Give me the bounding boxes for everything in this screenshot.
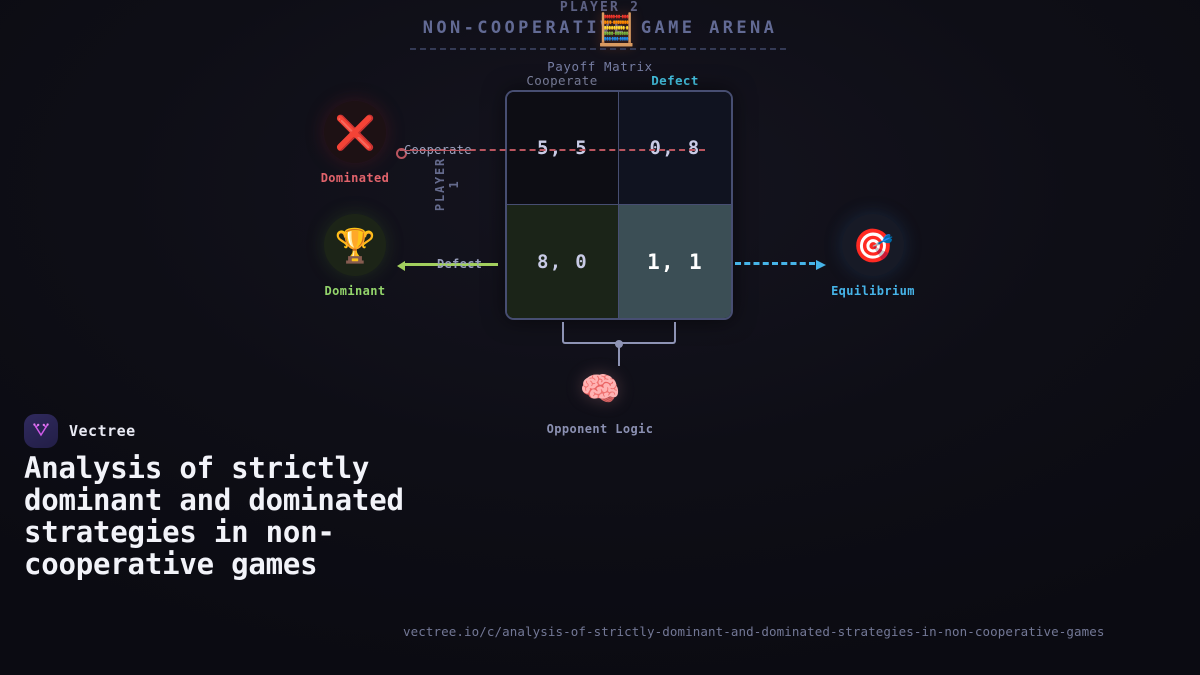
- payoff-matrix-caption: Payoff Matrix: [0, 59, 1200, 74]
- header-divider: [410, 48, 786, 50]
- badge-dominated-label: Dominated: [300, 171, 410, 185]
- row-header-defect: Defect: [437, 257, 482, 271]
- opponent-logic-label: Opponent Logic: [0, 422, 1200, 436]
- headline: Analysis of strictly dominant and domina…: [24, 452, 424, 580]
- target-icon: 🎯: [842, 214, 904, 276]
- matrix-cell-defect-cooperate[interactable]: 8, 0: [507, 205, 619, 318]
- trophy-icon: 🏆: [324, 214, 386, 276]
- cross-mark-icon: ❌: [324, 101, 386, 163]
- footer-url: vectree.io/c/analysis-of-strictly-domina…: [403, 624, 1105, 639]
- game-arena-canvas: PLAYER 2 NON-COOPERATIVE GAME ARENA 🧮 Pa…: [0, 0, 1200, 675]
- badge-dominated: ❌ Dominated: [300, 101, 410, 185]
- brain-icon: 🧠: [0, 372, 1200, 405]
- badge-equilibrium-label: Equilibrium: [818, 284, 928, 298]
- column-header-defect: Defect: [595, 73, 755, 88]
- equilibrium-arrow: [735, 262, 815, 265]
- brand-row: Vectree: [24, 414, 136, 448]
- player1-axis-label: PLAYER 1: [433, 154, 461, 214]
- vectree-logo-icon: [24, 414, 58, 448]
- badge-dominant: 🏆 Dominant: [300, 214, 410, 298]
- matrix-cell-defect-defect[interactable]: 1, 1: [619, 205, 731, 318]
- bracket-stem: [618, 344, 620, 366]
- badge-dominant-label: Dominant: [300, 284, 410, 298]
- badge-equilibrium: 🎯 Equilibrium: [818, 214, 928, 298]
- brand-name: Vectree: [69, 422, 136, 440]
- payoff-matrix: 5, 5 0, 8 8, 0 1, 1: [505, 90, 733, 320]
- abacus-icon: 🧮: [597, 13, 636, 47]
